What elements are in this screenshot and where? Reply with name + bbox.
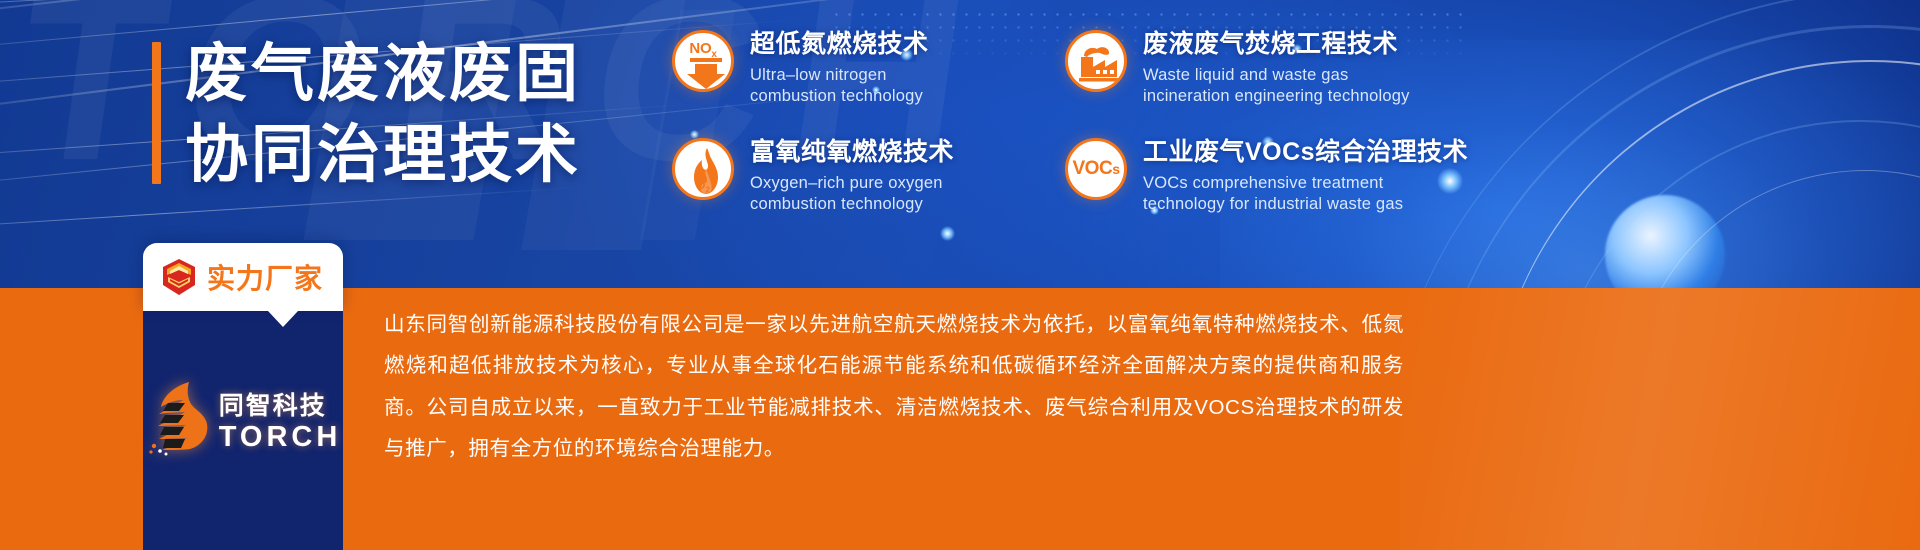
flame-icon: O2: [672, 138, 734, 200]
feature-item: VOCs 工业废气VOCs综合治理技术 VOCs comprehensive t…: [1065, 136, 1485, 244]
logo-text-cn: 同智科技: [219, 386, 327, 422]
vocs-icon: VOCs: [1065, 138, 1127, 200]
feature-item: O2 富氧纯氧燃烧技术 Oxygen–rich pure oxygen comb…: [672, 136, 1065, 244]
headline-line-2: 协同治理技术: [185, 117, 581, 194]
torch-flame-icon: [145, 380, 211, 458]
feature-title-cn: 工业废气VOCs综合治理技术: [1143, 137, 1468, 168]
o2-icon-label: O2: [675, 178, 731, 194]
feature-item: 废液废气焚烧工程技术 Waste liquid and waste gas in…: [1065, 28, 1485, 136]
nox-down-arrow-icon: NOx: [672, 30, 734, 92]
bottom-bar-sheen: [1400, 288, 1920, 550]
logo-text-en: TORCH: [219, 423, 342, 452]
headline: 废气废液废固 协同治理技术: [152, 36, 581, 194]
feature-item: NOx 超低氮燃烧技术 Ultra–low nitrogen combustio…: [672, 28, 1065, 136]
factory-icon: [1065, 30, 1127, 92]
feature-title-en: VOCs comprehensive treatment technology …: [1143, 173, 1468, 216]
headline-accent-bar: [152, 42, 161, 184]
vocs-icon-label: VOCs: [1068, 141, 1124, 197]
company-logo: 同智科技 TORCH: [143, 288, 343, 550]
feature-list: NOx 超低氮燃烧技术 Ultra–low nitrogen combustio…: [672, 28, 1485, 244]
feature-title-en: Waste liquid and waste gas incineration …: [1143, 65, 1410, 108]
feature-title-en: Ultra–low nitrogen combustion technology: [750, 65, 929, 108]
down-arrow-glyph: [684, 58, 728, 90]
company-description-text: 山东同智创新能源科技股份有限公司是一家以先进航空航天燃烧技术为依托，以富氧纯氧特…: [384, 304, 1404, 470]
feature-title-cn: 超低氮燃烧技术: [750, 29, 929, 60]
factory-glyph: [1076, 44, 1122, 84]
feature-title-en: Oxygen–rich pure oxygen combustion techn…: [750, 173, 954, 216]
promo-banner: TORCH 废气废液废固 协同治理技术: [0, 0, 1920, 550]
feature-title-cn: 废液废气焚烧工程技术: [1143, 29, 1410, 60]
left-orange-edge: [0, 288, 143, 550]
company-description: 山东同智创新能源科技股份有限公司是一家以先进航空航天燃烧技术为依托，以富氧纯氧特…: [384, 304, 1404, 470]
headline-line-1: 废气废液废固: [185, 36, 581, 113]
feature-title-cn: 富氧纯氧燃烧技术: [750, 137, 954, 168]
nox-icon-label: NOx: [675, 40, 731, 60]
